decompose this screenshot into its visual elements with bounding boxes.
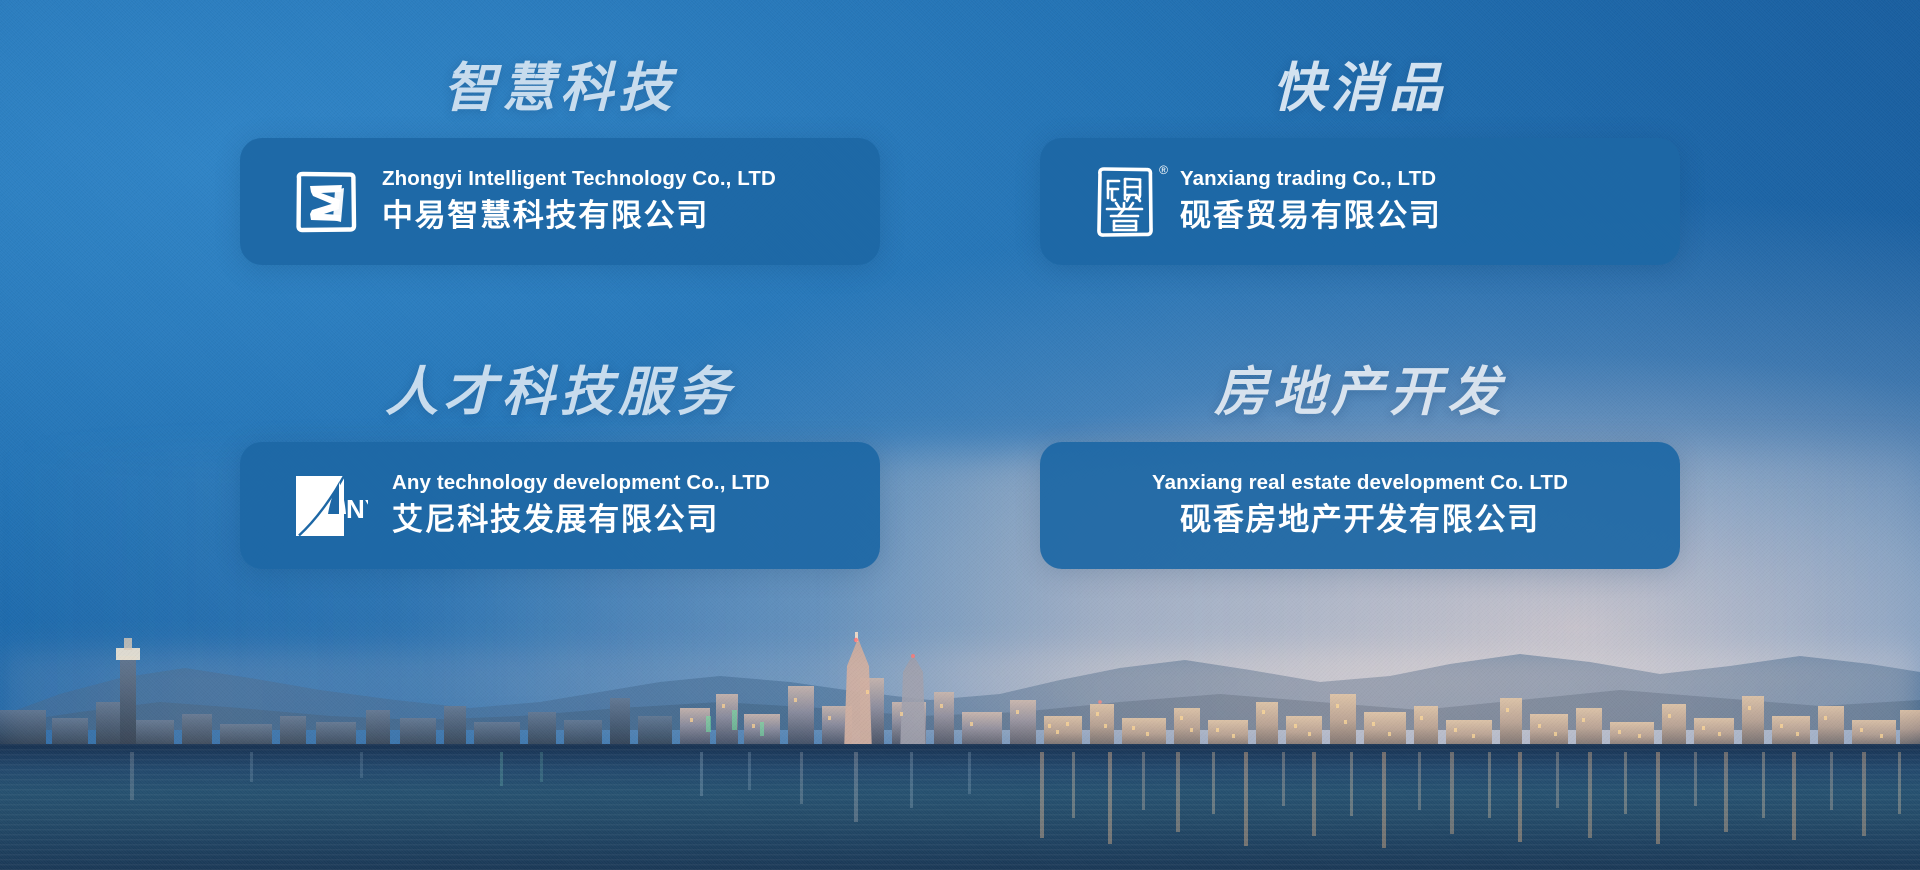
company-text-any: Any technology development Co., LTD 艾尼科技… [392, 470, 770, 540]
company-text-yanxiang-real-estate: Yanxiang real estate development Co. LTD… [1152, 470, 1568, 540]
sector-heading-smart-technology: 智慧科技 [240, 62, 880, 115]
company-name-cn: 艾尼科技发展有限公司 [392, 499, 770, 541]
company-card-any[interactable]: NY Any technology development Co., LTD 艾… [240, 442, 880, 569]
company-card-zhongyi[interactable]: Zhongyi Intelligent Technology Co., LTD … [240, 138, 880, 265]
company-text-zhongyi: Zhongyi Intelligent Technology Co., LTD … [382, 166, 776, 236]
company-card-yanxiang-real-estate[interactable]: Yanxiang real estate development Co. LTD… [1040, 442, 1680, 569]
sector-fmcg: 快消品 [1040, 62, 1680, 366]
company-name-cn: 中易智慧科技有限公司 [382, 195, 776, 237]
company-text-yanxiang-trading: Yanxiang trading Co., LTD 砚香贸易有限公司 [1180, 166, 1442, 236]
sector-grid: 智慧科技 Zhongyi Intelligent Technology Co.,… [0, 0, 1920, 870]
sector-talent-tech-services: 人才科技服务 NY Any technology development Co.… [240, 366, 880, 670]
zhongyi-z-seal-icon [294, 170, 358, 234]
yanxiang-seal-icon [1094, 165, 1156, 239]
sector-heading-fmcg: 快消品 [1040, 62, 1680, 115]
sector-real-estate: 房地产开发 Yanxiang real estate development C… [1040, 366, 1680, 670]
sector-smart-technology: 智慧科技 Zhongyi Intelligent Technology Co.,… [240, 62, 880, 366]
company-name-en: Yanxiang real estate development Co. LTD [1152, 470, 1568, 496]
company-card-yanxiang-trading[interactable]: ® Yanxiang trading Co., LTD 砚香贸易有限公司 [1040, 138, 1680, 265]
svg-text:NY: NY [346, 494, 368, 524]
sector-heading-real-estate: 房地产开发 [1040, 366, 1680, 419]
hero-banner: 智慧科技 Zhongyi Intelligent Technology Co.,… [0, 0, 1920, 870]
sector-heading-talent-tech-services: 人才科技服务 [240, 366, 880, 419]
company-name-cn: 砚香贸易有限公司 [1180, 195, 1442, 237]
company-name-en: Zhongyi Intelligent Technology Co., LTD [382, 166, 776, 192]
any-mountain-icon: NY [294, 474, 368, 538]
company-name-en: Yanxiang trading Co., LTD [1180, 166, 1442, 192]
company-name-en: Any technology development Co., LTD [392, 470, 770, 496]
registered-trademark-mark: ® [1159, 163, 1168, 177]
company-name-cn: 砚香房地产开发有限公司 [1180, 499, 1540, 541]
